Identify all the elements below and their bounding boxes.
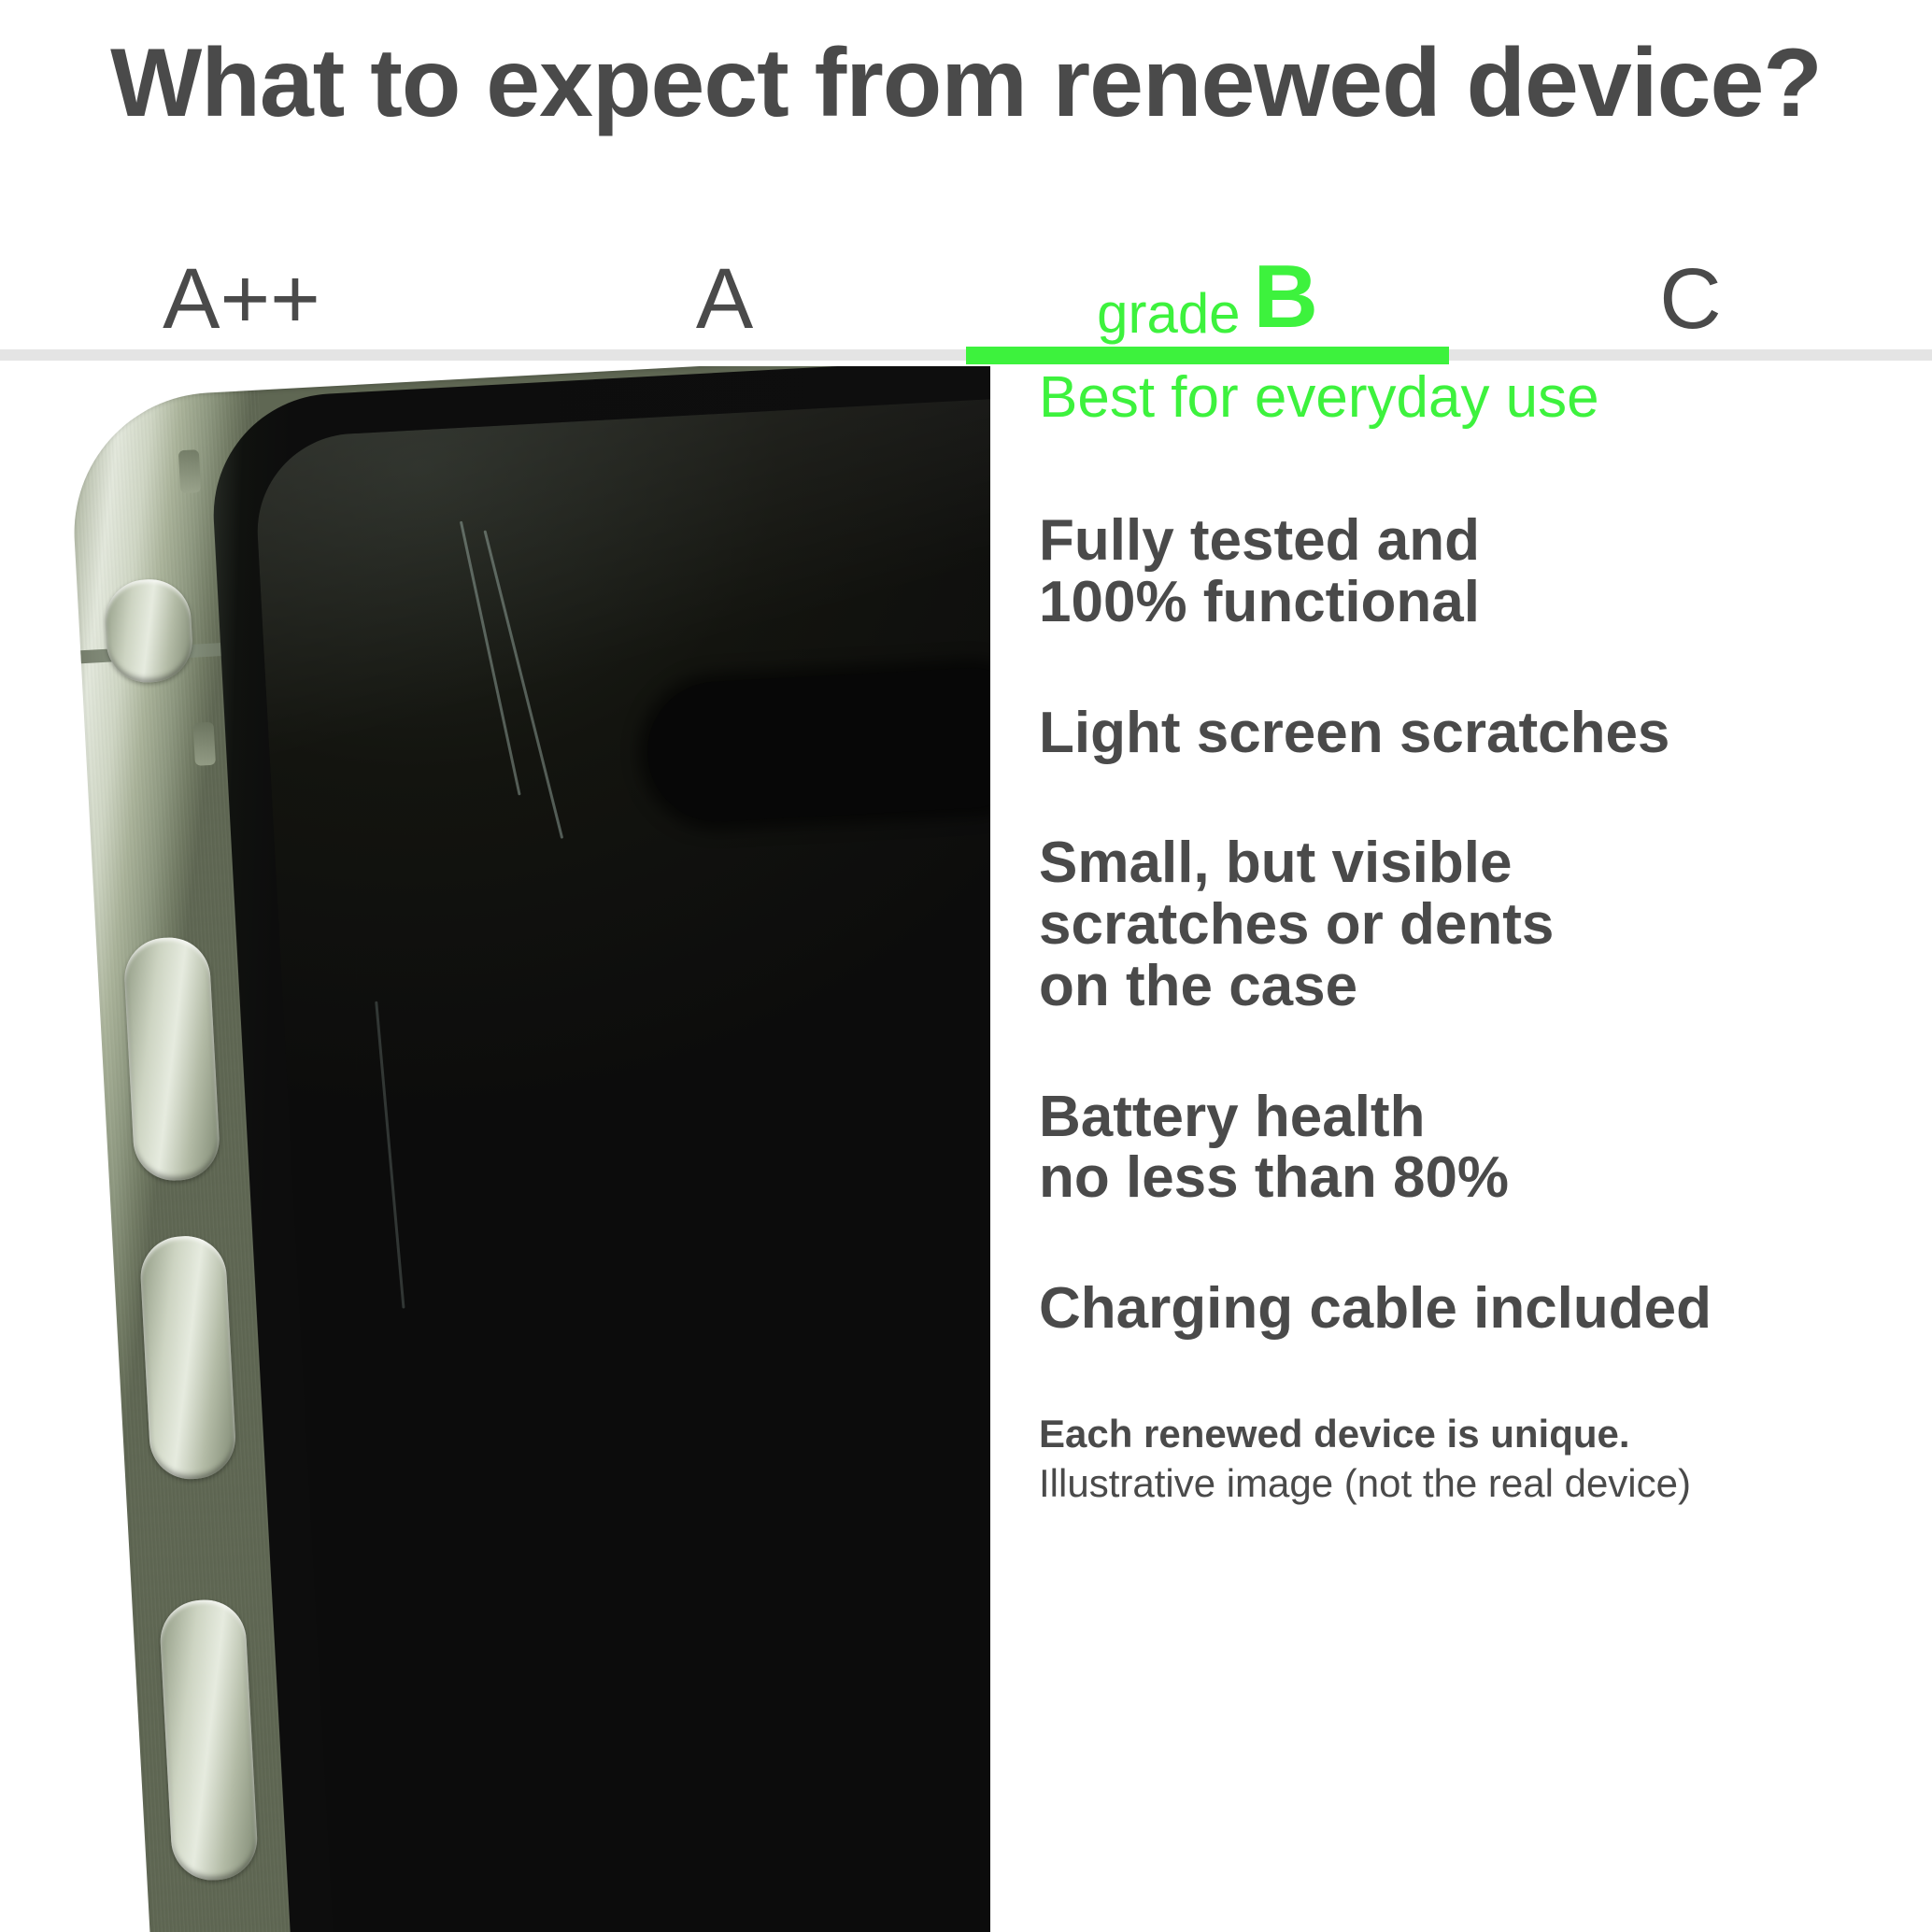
feature-item-charging-cable: Charging cable included — [1039, 1278, 1908, 1340]
tab-grade-c[interactable]: C — [1449, 220, 1932, 368]
dynamic-island — [644, 664, 990, 825]
action-button — [103, 577, 194, 685]
tab-grade-a-label: A — [696, 256, 753, 342]
footnote-line-unique: Each renewed device is unique. — [1039, 1409, 1908, 1459]
footnote: Each renewed device is unique. Illustrat… — [1039, 1409, 1908, 1510]
tab-grade-a-plus-plus[interactable]: A++ — [0, 220, 483, 368]
feature-item-screen-scratches: Light screen scratches — [1039, 703, 1908, 764]
page-title: What to expect from renewed device? — [0, 28, 1932, 140]
tab-grade-b-prefix: grade — [1097, 286, 1240, 342]
power-button — [158, 1598, 259, 1882]
device-photo — [0, 366, 990, 1932]
rail-notch-mark — [193, 722, 216, 766]
phone-body — [67, 366, 990, 1932]
feature-item-battery-health: Battery health no less than 80% — [1039, 1087, 1908, 1209]
footnote-line-illustrative: Illustrative image (not the real device) — [1039, 1458, 1908, 1509]
feature-item-functional: Fully tested and 100% functional — [1039, 510, 1908, 632]
feature-item-case-scratches: Small, but visible scratches or dents on… — [1039, 832, 1908, 1016]
phone-screen — [252, 389, 990, 1932]
renewed-device-grade-panel: What to expect from renewed device? A++ … — [0, 0, 1932, 1932]
tab-grade-b-label: B — [1254, 252, 1318, 342]
tab-grade-c-label: C — [1659, 256, 1721, 342]
grade-details: Best for everyday use Fully tested and 1… — [1039, 366, 1908, 1509]
grade-headline: Best for everyday use — [1039, 366, 1908, 430]
tab-grade-a-plus-plus-label: A++ — [163, 256, 320, 342]
active-tab-underline — [966, 347, 1449, 364]
tab-grade-a[interactable]: A — [483, 220, 966, 368]
volume-up-button — [122, 935, 221, 1183]
volume-down-button — [138, 1234, 237, 1482]
rail-notch-mark — [178, 449, 201, 493]
